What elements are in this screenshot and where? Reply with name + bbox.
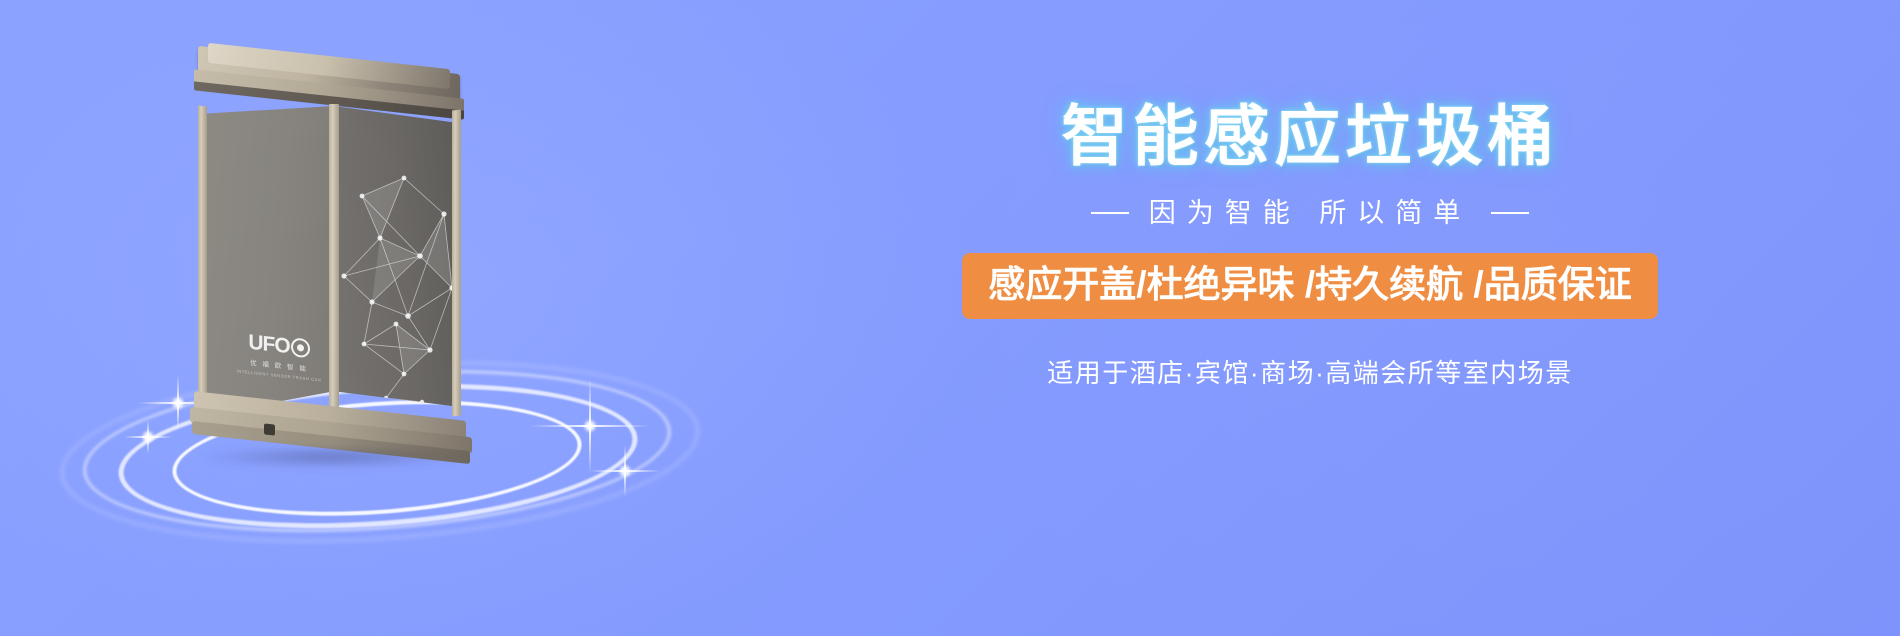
polygon-network-graphic [334, 106, 458, 416]
edge-trim-right [452, 110, 461, 417]
logo-ring-icon [291, 337, 310, 358]
feature-badge: 感应开盖/杜绝异味 /持久续航 /品质保证 [962, 253, 1657, 319]
dash-right-icon [1491, 212, 1529, 214]
edge-trim-left [198, 106, 207, 419]
banner-copy-block: 智能感应垃圾桶 因为智能 所以简单 感应开盖/杜绝异味 /持久续航 /品质保证 … [860, 100, 1760, 390]
banner-headline: 智能感应垃圾桶 [860, 100, 1760, 174]
banner-subline: 因为智能 所以简单 [860, 200, 1760, 227]
body-panel-right [334, 106, 458, 416]
trash-can-product: UFO 优 福 欧 智 能 INTELLIGENT SENSOR TRASH C… [190, 50, 490, 440]
promo-banner: UFO 优 福 欧 智 能 INTELLIGENT SENSOR TRASH C… [0, 0, 1900, 636]
dash-left-icon [1091, 212, 1129, 214]
edge-trim-center [329, 104, 339, 420]
product-image-area: UFO 优 福 欧 智 能 INTELLIGENT SENSOR TRASH C… [60, 20, 740, 600]
banner-caption: 适用于酒店·宾馆·商场·高端会所等室内场景 [860, 353, 1760, 390]
logo-letters: UFO [248, 331, 289, 356]
product-brand-logo: UFO 优 福 欧 智 能 INTELLIGENT SENSOR TRASH C… [236, 327, 322, 382]
sensor-slot [264, 423, 275, 435]
ground-shadow [200, 446, 462, 468]
subline-text: 因为智能 所以简单 [1149, 200, 1472, 227]
